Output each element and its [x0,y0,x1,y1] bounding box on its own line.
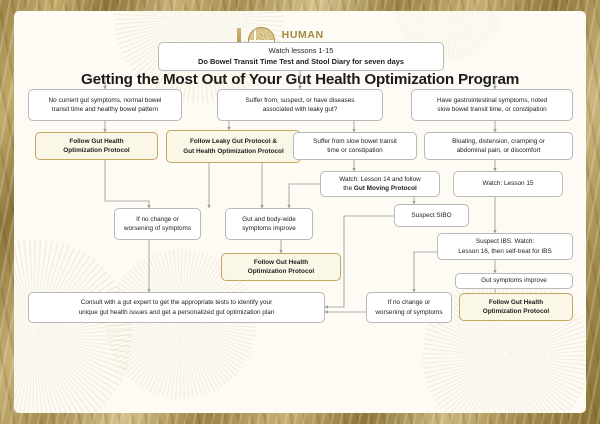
flow-node-text: Suffer from, suspect, or have diseasesas… [246,96,355,115]
flow-node-text: If no change orworsening of symptoms [375,298,442,317]
flow-node-text: Follow Leaky Gut Protocol &Gut Health Op… [183,137,283,156]
flow-node-suspect-ibs[interactable]: Suspect IBS. Watch:Lesson 16, then self-… [437,233,573,260]
flow-node-text: Have gastrointestinal symptoms, notedslo… [437,96,547,115]
flow-node-text: Consult with a gut expert to get the app… [79,298,275,317]
flow-node-text: Follow Gut HealthOptimization Protocol [483,298,549,317]
flow-node-slow-transit[interactable]: Suffer from slow bowel transittime or co… [293,132,417,160]
flow-node-text: No current gut symptoms, normal boweltra… [49,96,162,115]
flow-node-symptoms-improve[interactable]: Gut and body-widesymptoms improve [225,208,313,240]
flow-node-text: Gut and body-widesymptoms improve [242,215,296,234]
flow-node-no-change-1[interactable]: If no change orworsening of symptoms [114,208,201,240]
flow-node-consult-expert[interactable]: Consult with a gut expert to get the app… [28,292,325,323]
flow-node-lesson-15[interactable]: Watch: Lesson 15 [453,171,563,197]
flow-node-suspect-sibo[interactable]: Suspect SIBO [394,204,469,227]
flow-node-gut-health-protocol-1[interactable]: Follow Gut HealthOptimization Protocol [35,132,158,160]
flow-node-gut-symptoms-improve[interactable]: Gut symptoms improve [455,273,573,289]
flow-node-leaky-gut-protocol[interactable]: Follow Leaky Gut Protocol &Gut Health Op… [166,130,301,163]
flow-node-text: Suffer from slow bowel transittime or co… [313,137,397,156]
flow-node-text: Bloating, distension, cramping orabdomin… [452,137,545,156]
flow-node-gi-symptoms[interactable]: Have gastrointestinal symptoms, notedslo… [411,89,573,121]
flowchart: Watch lessons 1-15Do Bowel Transit Time … [14,11,586,413]
flow-node-text: Suspect IBS. Watch:Lesson 16, then self-… [458,237,551,256]
infographic-page: HUMAN OPTIMIZATION Getting the Most Out … [14,11,586,413]
flow-node-text: Watch lessons 1-15Do Bowel Transit Time … [198,46,404,67]
flow-node-start[interactable]: Watch lessons 1-15Do Bowel Transit Time … [158,42,444,71]
infographic-frame: HUMAN OPTIMIZATION Getting the Most Out … [0,0,600,424]
flow-node-text: Watch: Lesson 14 and followthe Gut Movin… [339,175,420,194]
flow-node-no-change-2[interactable]: If no change orworsening of symptoms [366,292,452,323]
flow-node-lesson-14[interactable]: Watch: Lesson 14 and followthe Gut Movin… [320,171,440,197]
flow-node-text: Gut symptoms improve [481,276,547,285]
flow-node-gut-health-protocol-3[interactable]: Follow Gut HealthOptimization Protocol [459,293,573,321]
flow-node-text: Follow Gut HealthOptimization Protocol [248,258,314,277]
flow-node-text: If no change orworsening of symptoms [124,215,191,234]
flow-node-text: Suspect SIBO [411,211,451,220]
flow-node-leaky-gut-question[interactable]: Suffer from, suspect, or have diseasesas… [217,89,383,121]
flow-node-no-symptoms[interactable]: No current gut symptoms, normal boweltra… [28,89,182,121]
flow-node-text: Watch: Lesson 15 [483,179,534,188]
flow-node-bloating[interactable]: Bloating, distension, cramping orabdomin… [424,132,573,160]
flow-node-text: Follow Gut HealthOptimization Protocol [63,137,129,156]
flow-node-gut-health-protocol-2[interactable]: Follow Gut HealthOptimization Protocol [221,253,341,281]
